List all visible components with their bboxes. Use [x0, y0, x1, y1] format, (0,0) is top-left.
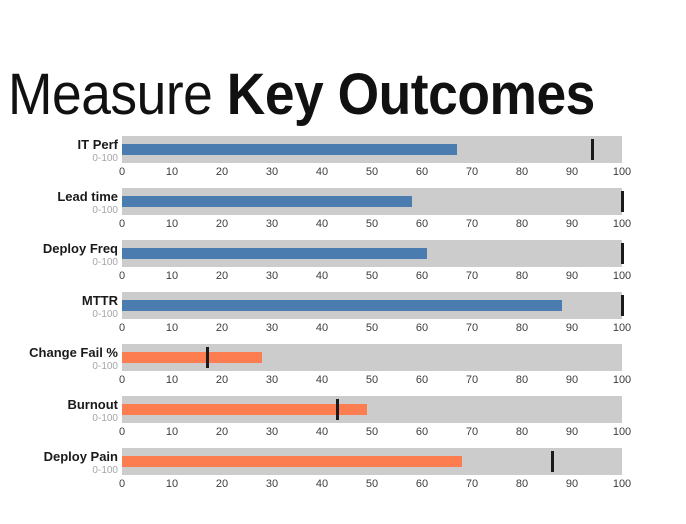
row-label-range: 0-100 — [0, 361, 118, 373]
axis-tick-label: 70 — [466, 424, 478, 440]
axis-tick-label: 20 — [216, 424, 228, 440]
row-label: Deploy Freq0-100 — [0, 241, 118, 269]
chart-row: Change Fail %0-1000102030405060708090100 — [0, 341, 686, 393]
axis-tick-label: 30 — [266, 320, 278, 336]
axis-tick-label: 80 — [516, 476, 528, 492]
row-label-range: 0-100 — [0, 309, 118, 321]
axis-tick-label: 50 — [366, 320, 378, 336]
row-label: Change Fail %0-100 — [0, 345, 118, 373]
axis-tick-label: 30 — [266, 268, 278, 284]
row-label-range: 0-100 — [0, 465, 118, 477]
row-axis: 0102030405060708090100 — [122, 372, 622, 390]
bullet-chart: IT Perf0-1000102030405060708090100Lead t… — [0, 133, 686, 513]
axis-tick-label: 10 — [166, 216, 178, 232]
row-track — [122, 344, 622, 371]
row-value-bar — [122, 196, 412, 207]
row-axis: 0102030405060708090100 — [122, 424, 622, 442]
axis-tick-label: 0 — [119, 476, 125, 492]
axis-tick-label: 100 — [613, 476, 631, 492]
axis-tick-label: 20 — [216, 216, 228, 232]
axis-tick-label: 80 — [516, 372, 528, 388]
axis-tick-label: 40 — [316, 268, 328, 284]
row-label-title: MTTR — [0, 293, 118, 308]
axis-tick-label: 0 — [119, 164, 125, 180]
chart-row: Lead time0-1000102030405060708090100 — [0, 185, 686, 237]
axis-tick-label: 100 — [613, 164, 631, 180]
axis-tick-label: 40 — [316, 320, 328, 336]
axis-tick-label: 50 — [366, 372, 378, 388]
axis-tick-label: 20 — [216, 268, 228, 284]
axis-tick-label: 80 — [516, 320, 528, 336]
row-label-title: IT Perf — [0, 137, 118, 152]
row-track — [122, 396, 622, 423]
axis-tick-label: 10 — [166, 164, 178, 180]
row-track — [122, 240, 622, 267]
row-label-range: 0-100 — [0, 205, 118, 217]
row-value-bar — [122, 300, 562, 311]
row-target-marker — [591, 139, 594, 160]
chart-row: Deploy Pain0-1000102030405060708090100 — [0, 445, 686, 497]
axis-tick-label: 0 — [119, 216, 125, 232]
axis-tick-label: 80 — [516, 164, 528, 180]
axis-tick-label: 50 — [366, 476, 378, 492]
chart-row: MTTR0-1000102030405060708090100 — [0, 289, 686, 341]
row-value-bar — [122, 352, 262, 363]
axis-tick-label: 40 — [316, 424, 328, 440]
row-target-marker — [621, 295, 624, 316]
row-label-range: 0-100 — [0, 413, 118, 425]
row-target-marker — [551, 451, 554, 472]
row-target-marker — [206, 347, 209, 368]
axis-tick-label: 30 — [266, 372, 278, 388]
axis-tick-label: 70 — [466, 476, 478, 492]
axis-tick-label: 20 — [216, 372, 228, 388]
axis-tick-label: 100 — [613, 268, 631, 284]
axis-tick-label: 40 — [316, 216, 328, 232]
row-label: Lead time0-100 — [0, 189, 118, 217]
row-label-title: Burnout — [0, 397, 118, 412]
page-title-bold: Key Outcomes — [227, 62, 595, 127]
row-target-marker — [621, 191, 624, 212]
row-label: Burnout0-100 — [0, 397, 118, 425]
row-label-range: 0-100 — [0, 153, 118, 165]
axis-tick-label: 100 — [613, 216, 631, 232]
row-axis: 0102030405060708090100 — [122, 476, 622, 494]
axis-tick-label: 20 — [216, 476, 228, 492]
chart-row: Burnout0-1000102030405060708090100 — [0, 393, 686, 445]
axis-tick-label: 90 — [566, 476, 578, 492]
row-target-marker — [336, 399, 339, 420]
axis-tick-label: 80 — [516, 424, 528, 440]
axis-tick-label: 60 — [416, 216, 428, 232]
axis-tick-label: 70 — [466, 268, 478, 284]
axis-tick-label: 70 — [466, 164, 478, 180]
axis-tick-label: 60 — [416, 164, 428, 180]
axis-tick-label: 10 — [166, 424, 178, 440]
axis-tick-label: 60 — [416, 320, 428, 336]
axis-tick-label: 0 — [119, 424, 125, 440]
axis-tick-label: 60 — [416, 424, 428, 440]
axis-tick-label: 40 — [316, 476, 328, 492]
row-axis: 0102030405060708090100 — [122, 268, 622, 286]
axis-tick-label: 50 — [366, 216, 378, 232]
axis-tick-label: 0 — [119, 268, 125, 284]
row-label-title: Change Fail % — [0, 345, 118, 360]
row-value-bar — [122, 248, 427, 259]
page-title: Measure Key Outcomes — [8, 61, 624, 131]
axis-tick-label: 0 — [119, 320, 125, 336]
chart-row: Deploy Freq0-1000102030405060708090100 — [0, 237, 686, 289]
axis-tick-label: 20 — [216, 320, 228, 336]
axis-tick-label: 90 — [566, 424, 578, 440]
axis-tick-label: 30 — [266, 476, 278, 492]
row-track — [122, 188, 622, 215]
chart-row: IT Perf0-1000102030405060708090100 — [0, 133, 686, 185]
row-value-bar — [122, 456, 462, 467]
axis-tick-label: 60 — [416, 372, 428, 388]
axis-tick-label: 40 — [316, 164, 328, 180]
axis-tick-label: 90 — [566, 268, 578, 284]
axis-tick-label: 100 — [613, 424, 631, 440]
axis-tick-label: 80 — [516, 268, 528, 284]
row-label-title: Lead time — [0, 189, 118, 204]
axis-tick-label: 90 — [566, 216, 578, 232]
axis-tick-label: 30 — [266, 216, 278, 232]
row-value-bar — [122, 144, 457, 155]
axis-tick-label: 20 — [216, 164, 228, 180]
axis-tick-label: 100 — [613, 320, 631, 336]
axis-tick-label: 0 — [119, 372, 125, 388]
row-label: Deploy Pain0-100 — [0, 449, 118, 477]
axis-tick-label: 60 — [416, 268, 428, 284]
axis-tick-label: 10 — [166, 268, 178, 284]
row-track — [122, 136, 622, 163]
row-target-marker — [621, 243, 624, 264]
axis-tick-label: 30 — [266, 164, 278, 180]
row-label-title: Deploy Freq — [0, 241, 118, 256]
axis-tick-label: 10 — [166, 320, 178, 336]
row-axis: 0102030405060708090100 — [122, 320, 622, 338]
axis-tick-label: 50 — [366, 424, 378, 440]
axis-tick-label: 90 — [566, 320, 578, 336]
axis-tick-label: 40 — [316, 372, 328, 388]
row-label-range: 0-100 — [0, 257, 118, 269]
row-value-bar — [122, 404, 367, 415]
page-title-light: Measure — [8, 62, 227, 127]
axis-tick-label: 70 — [466, 216, 478, 232]
axis-tick-label: 30 — [266, 424, 278, 440]
axis-tick-label: 80 — [516, 216, 528, 232]
axis-tick-label: 50 — [366, 268, 378, 284]
row-axis: 0102030405060708090100 — [122, 164, 622, 182]
axis-tick-label: 100 — [613, 372, 631, 388]
row-track — [122, 292, 622, 319]
axis-tick-label: 70 — [466, 320, 478, 336]
axis-tick-label: 70 — [466, 372, 478, 388]
axis-tick-label: 10 — [166, 372, 178, 388]
axis-tick-label: 90 — [566, 372, 578, 388]
row-label-title: Deploy Pain — [0, 449, 118, 464]
axis-tick-label: 90 — [566, 164, 578, 180]
row-label: IT Perf0-100 — [0, 137, 118, 165]
row-axis: 0102030405060708090100 — [122, 216, 622, 234]
row-track — [122, 448, 622, 475]
axis-tick-label: 60 — [416, 476, 428, 492]
row-label: MTTR0-100 — [0, 293, 118, 321]
axis-tick-label: 10 — [166, 476, 178, 492]
axis-tick-label: 50 — [366, 164, 378, 180]
